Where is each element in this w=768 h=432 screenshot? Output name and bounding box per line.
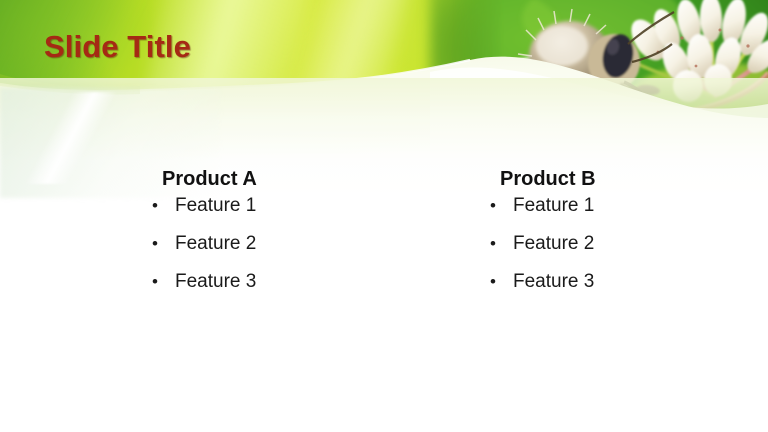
feature-label: Feature 2 (175, 233, 256, 255)
product-column-b: Product B • Feature 1 • Feature 2 • Feat… (384, 168, 768, 309)
feature-label: Feature 3 (175, 271, 256, 293)
list-item: • Feature 2 (152, 233, 384, 271)
list-item: • Feature 1 (152, 195, 384, 233)
feature-label: Feature 2 (513, 233, 594, 255)
bullet-icon: • (152, 197, 175, 214)
list-item: • Feature 3 (490, 271, 768, 309)
presentation-slide: Slide Title (0, 0, 768, 432)
bullet-icon: • (490, 273, 513, 290)
slide-content: Product A • Feature 1 • Feature 2 • Feat… (0, 168, 768, 309)
bullet-icon: • (490, 235, 513, 252)
feature-label: Feature 1 (175, 195, 256, 217)
bullet-icon: • (490, 197, 513, 214)
list-item: • Feature 3 (152, 271, 384, 309)
list-item: • Feature 2 (490, 233, 768, 271)
product-b-feature-list: • Feature 1 • Feature 2 • Feature 3 (490, 195, 768, 309)
product-a-heading: Product A (162, 168, 384, 191)
feature-label: Feature 1 (513, 195, 594, 217)
slide-header-banner: Slide Title (0, 0, 768, 140)
product-b-heading: Product B (500, 168, 768, 191)
bullet-icon: • (152, 235, 175, 252)
slide-title[interactable]: Slide Title (44, 29, 191, 65)
product-column-a: Product A • Feature 1 • Feature 2 • Feat… (0, 168, 384, 309)
bullet-icon: • (152, 273, 175, 290)
product-a-feature-list: • Feature 1 • Feature 2 • Feature 3 (152, 195, 384, 309)
feature-label: Feature 3 (513, 271, 594, 293)
list-item: • Feature 1 (490, 195, 768, 233)
bee-on-clover-photo (452, 0, 768, 132)
